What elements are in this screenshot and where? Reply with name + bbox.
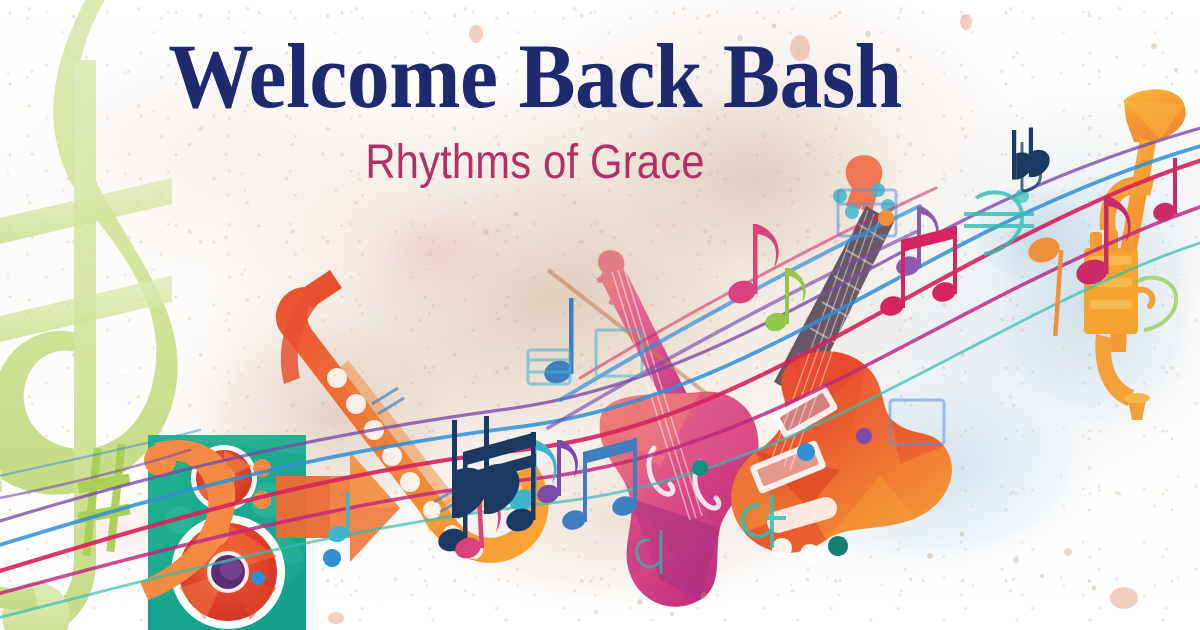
- quarter-note-orange-2: [1025, 234, 1063, 336]
- double-flat-center: [452, 416, 519, 518]
- eighth-note-pink: [725, 224, 778, 307]
- beamed-eighth-notes-crimson: [878, 226, 959, 319]
- page-title: Welcome Back Bash: [37, 30, 1032, 124]
- eighth-note-magenta-2: [1151, 158, 1177, 224]
- note-dot: [323, 549, 341, 567]
- eighth-note-green: [763, 268, 806, 334]
- page-subtitle: Rhythms of Grace: [70, 138, 1001, 188]
- event-banner: Welcome Back Bash Rhythms of Grace: [0, 0, 1200, 630]
- headline-block: Welcome Back Bash Rhythms of Grace: [0, 30, 1070, 188]
- note-dot: [856, 428, 872, 444]
- note-dot: [692, 460, 708, 476]
- music-notes: [251, 158, 1200, 585]
- note-dot: [797, 443, 815, 461]
- note-dot: [251, 571, 265, 585]
- bass-clef-green-small: [1136, 278, 1176, 330]
- note-dot: [878, 210, 894, 226]
